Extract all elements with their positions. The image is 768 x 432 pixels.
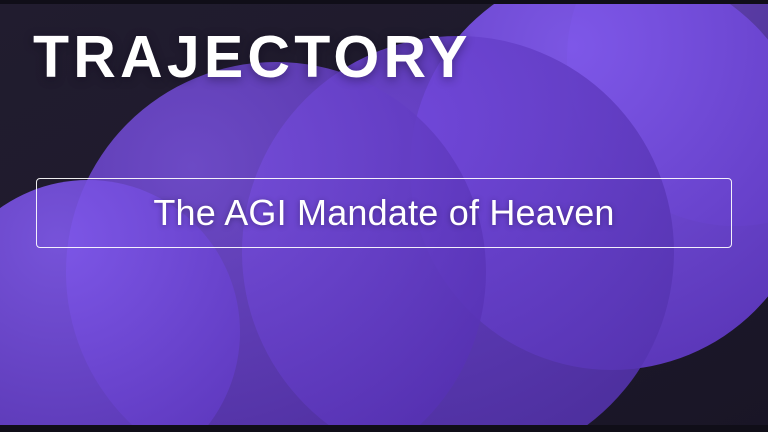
subtitle-frame: The AGI Mandate of Heaven bbox=[36, 178, 732, 248]
subtitle-text: The AGI Mandate of Heaven bbox=[153, 192, 614, 234]
page-title: TRAJECTORY bbox=[33, 27, 472, 89]
slide-content: TRAJECTORY The AGI Mandate of Heaven bbox=[0, 0, 768, 432]
title-slide: TRAJECTORY The AGI Mandate of Heaven bbox=[0, 0, 768, 432]
